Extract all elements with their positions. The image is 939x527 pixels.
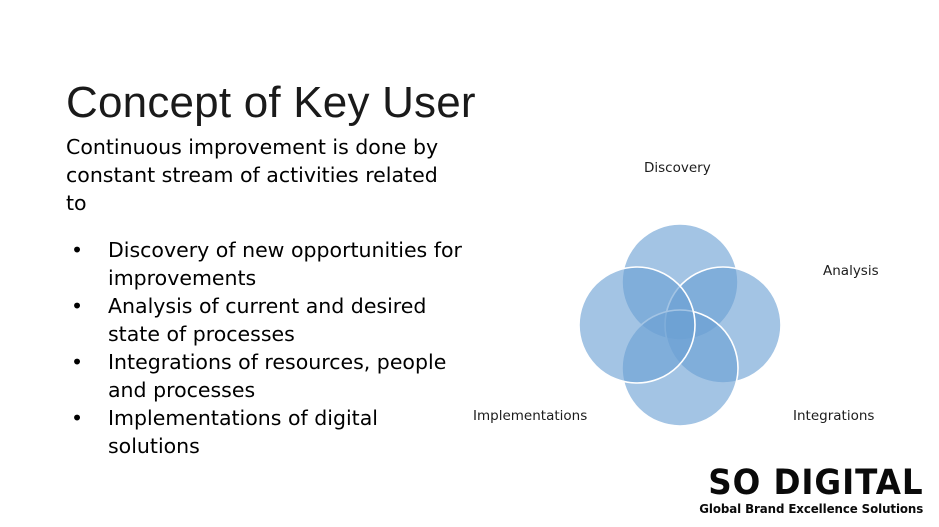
logo-name: SO DIGITAL	[709, 465, 924, 501]
venn-circles	[579, 224, 781, 426]
list-item: • Analysis of current and desired state …	[66, 293, 466, 348]
logo-tagline: Global Brand Excellence Solutions	[699, 502, 924, 516]
bullet-icon: •	[71, 349, 83, 377]
slide-canvas: Concept of Key User Continuous improveme…	[0, 0, 939, 527]
venn-diagram: Discovery Analysis Integrations Implemen…	[455, 145, 925, 445]
bullet-icon: •	[71, 237, 83, 265]
list-item-label: Implementations of digital solutions	[108, 406, 378, 458]
list-item: • Implementations of digital solutions	[66, 405, 466, 460]
venn-label-analysis: Analysis	[823, 263, 879, 279]
venn-circle-implementations	[579, 267, 695, 383]
page-title: Concept of Key User	[66, 77, 476, 129]
venn-diagram-graphic	[455, 145, 925, 445]
venn-label-discovery: Discovery	[644, 160, 711, 176]
list-item-label: Discovery of new opportunities for impro…	[108, 238, 462, 290]
venn-label-implementations: Implementations	[473, 408, 587, 424]
list-item: • Integrations of resources, people and …	[66, 349, 466, 404]
bullet-icon: •	[71, 293, 83, 321]
intro-paragraph: Continuous improvement is done by consta…	[66, 133, 458, 217]
bullet-list: • Discovery of new opportunities for imp…	[66, 237, 466, 460]
venn-label-integrations: Integrations	[793, 408, 874, 424]
bullet-icon: •	[71, 405, 83, 433]
logo: SO DIGITAL Global Brand Excellence Solut…	[692, 465, 924, 516]
list-item: • Discovery of new opportunities for imp…	[66, 237, 466, 292]
list-item-label: Analysis of current and desired state of…	[108, 294, 426, 346]
list-item-label: Integrations of resources, people and pr…	[108, 350, 446, 402]
body-text-column: Continuous improvement is done by consta…	[66, 133, 466, 461]
